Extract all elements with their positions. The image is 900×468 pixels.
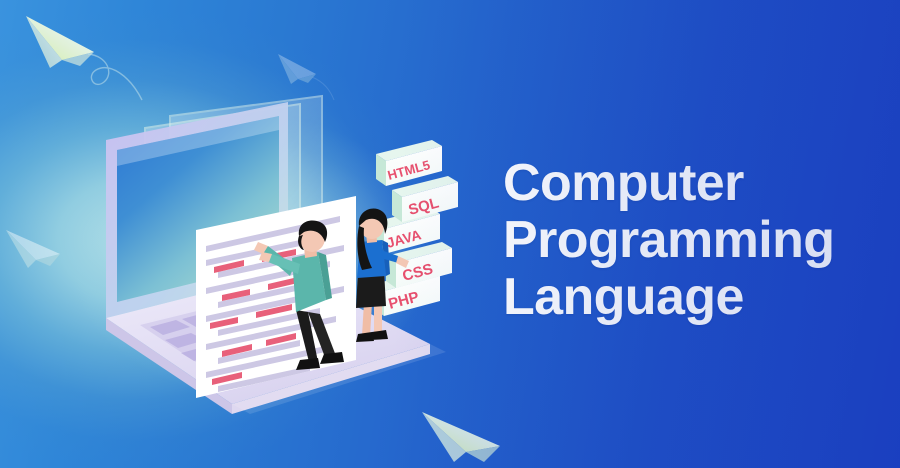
banner-canvas: PHP CSS JAVA <box>0 0 900 468</box>
background-vignette <box>0 0 900 468</box>
